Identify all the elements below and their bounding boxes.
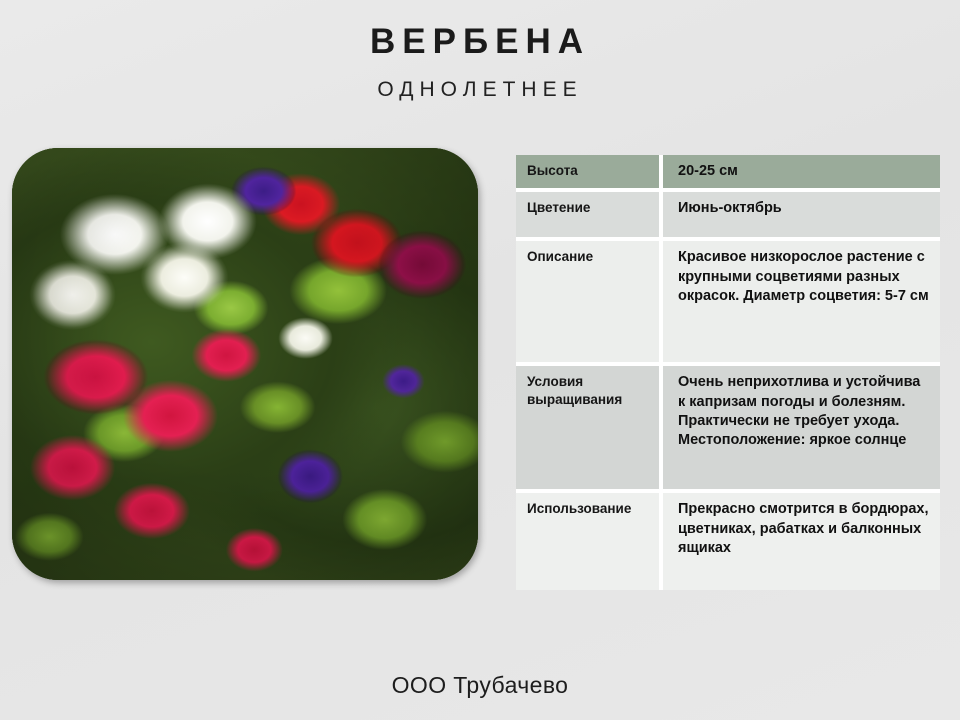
table-row: Цветение Июнь-октябрь <box>516 192 940 237</box>
table-row: Условия выращивания Очень неприхотлива и… <box>516 366 940 489</box>
table-cell-value: Очень неприхотлива и устойчива к каприза… <box>663 366 940 489</box>
table-row: Высота 20-25 см <box>516 155 940 188</box>
table-row: Описание Красивое низкорослое растение с… <box>516 241 940 362</box>
slide-canvas: ВЕРБЕНА ОДНОЛЕТНЕЕ Высота 20-25 см Цвете… <box>0 0 960 720</box>
footer-company-name: ООО Трубачево <box>0 672 960 699</box>
table-cell-label: Условия выращивания <box>516 366 659 489</box>
page-subtitle: ОДНОЛЕТНЕЕ <box>0 78 960 102</box>
table-cell-label: Описание <box>516 241 659 362</box>
table-cell-value: 20-25 см <box>663 155 940 188</box>
table-row: Использование Прекрасно смотрится в борд… <box>516 493 940 590</box>
page-title: ВЕРБЕНА <box>0 22 960 62</box>
plant-info-table: Высота 20-25 см Цветение Июнь-октябрь Оп… <box>516 155 940 590</box>
table-cell-label: Использование <box>516 493 659 590</box>
table-cell-value: Красивое низкорослое растение с крупными… <box>663 241 940 362</box>
table-cell-value: Прекрасно смотрится в бордюрах, цветника… <box>663 493 940 590</box>
table-cell-label: Цветение <box>516 192 659 237</box>
plant-photo <box>12 148 478 580</box>
slide-header: ВЕРБЕНА ОДНОЛЕТНЕЕ <box>0 22 960 102</box>
table-cell-label: Высота <box>516 155 659 188</box>
plant-photo-image <box>12 148 478 580</box>
table-cell-value: Июнь-октябрь <box>663 192 940 237</box>
